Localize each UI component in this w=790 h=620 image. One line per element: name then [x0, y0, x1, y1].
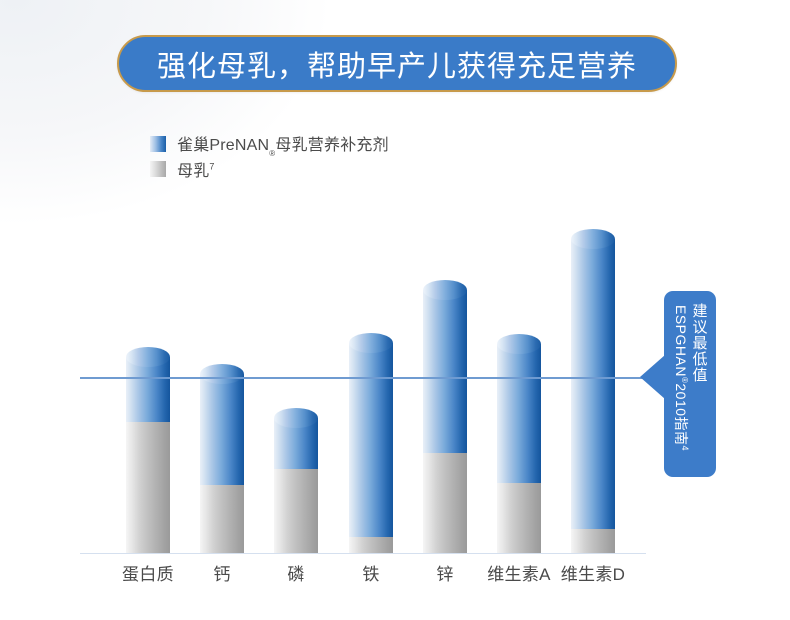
callout-line-secondary: ESPGHAN®2010指南4 [673, 303, 688, 451]
chart-page: 强化母乳，帮助早产儿获得充足营养 雀巢PreNAN®母乳营养补充剂 母乳7 蛋白… [0, 0, 790, 620]
bar-segment-breastmilk [497, 483, 541, 553]
bar-segment-prenan [571, 239, 615, 528]
bar-钙 [200, 364, 244, 553]
bar-铁 [349, 333, 393, 554]
bar-segment-prenan [349, 343, 393, 538]
bar-维生素D [571, 229, 615, 553]
bar-cap-icon [349, 333, 393, 353]
bar-segment-breastmilk [349, 537, 393, 553]
bar-segment-breastmilk [274, 469, 318, 553]
bar-segment-prenan [423, 290, 467, 453]
bar-cap-icon [423, 280, 467, 300]
x-axis-label-维生素D: 维生素D [548, 560, 638, 585]
bar-cap-icon [126, 347, 170, 367]
callout-arrow-icon [640, 355, 665, 399]
bar-锌 [423, 280, 467, 553]
bar-磷 [274, 408, 318, 553]
reference-line [80, 377, 648, 379]
callout-line-primary: 建议最低值 [691, 303, 707, 383]
bar-segment-prenan [497, 344, 541, 483]
bar-segment-breastmilk [200, 485, 244, 553]
bar-segment-breastmilk [126, 422, 170, 553]
bar-cap-icon [200, 364, 244, 384]
axis-baseline [80, 553, 646, 554]
bar-维生素A [497, 334, 541, 553]
bar-segment-breastmilk [571, 529, 615, 554]
reference-callout: 建议最低值 ESPGHAN®2010指南4 [664, 291, 716, 477]
bar-segment-breastmilk [423, 453, 467, 553]
x-axis-labels: 蛋白质钙磷铁锌维生素A维生素D [0, 560, 790, 590]
bar-segment-prenan [200, 374, 244, 485]
bar-cap-icon [274, 408, 318, 428]
